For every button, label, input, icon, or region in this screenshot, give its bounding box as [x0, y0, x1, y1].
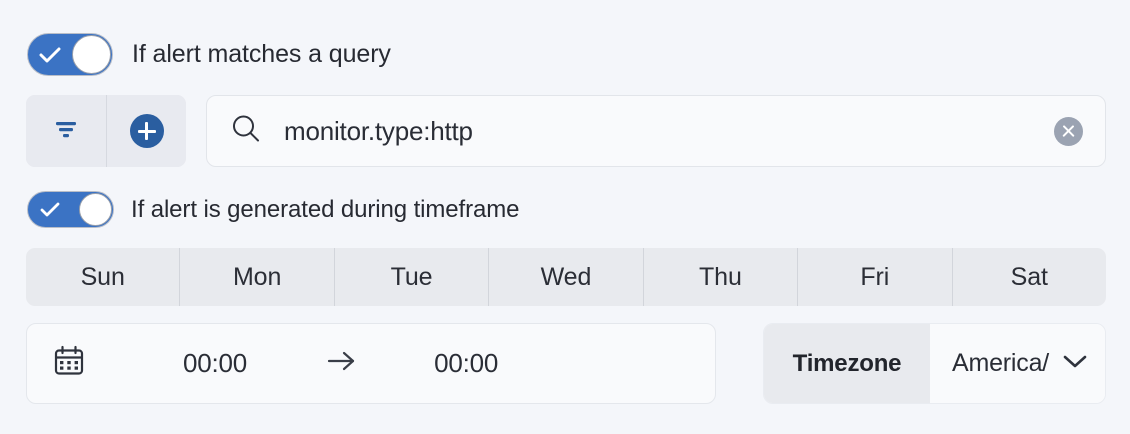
- day-button-tue[interactable]: Tue: [334, 248, 488, 306]
- plus-circle-icon: [130, 114, 164, 148]
- time-range-start[interactable]: 00:00: [183, 348, 247, 379]
- day-button-fri[interactable]: Fri: [797, 248, 951, 306]
- chevron-down-icon[interactable]: [1060, 351, 1090, 376]
- timezone-value[interactable]: America/: [952, 349, 1050, 378]
- day-button-sat[interactable]: Sat: [952, 248, 1106, 306]
- toggle-knob: [79, 193, 112, 226]
- timezone-value-wrap[interactable]: America/: [930, 324, 1105, 403]
- day-button-sun[interactable]: Sun: [26, 248, 179, 306]
- timezone-label: Timezone: [764, 324, 930, 403]
- check-icon: [40, 202, 60, 218]
- timeframe-condition-toggle[interactable]: [27, 191, 114, 228]
- timeframe-condition-row: If alert is generated during timeframe: [27, 191, 519, 228]
- filter-button[interactable]: [26, 95, 106, 167]
- search-icon: [229, 112, 263, 151]
- add-filter-button[interactable]: [106, 95, 186, 167]
- time-range-picker[interactable]: 00:00 00:00: [26, 323, 716, 404]
- time-range-end[interactable]: 00:00: [434, 348, 498, 379]
- timeframe-condition-label: If alert is generated during timeframe: [131, 196, 519, 224]
- query-condition-toggle[interactable]: [27, 33, 113, 76]
- close-circle-icon[interactable]: [1054, 117, 1083, 146]
- toggle-knob: [72, 35, 111, 74]
- calendar-icon: [52, 344, 86, 383]
- check-icon: [39, 46, 61, 64]
- timezone-selector[interactable]: Timezone America/: [763, 323, 1106, 404]
- day-button-thu[interactable]: Thu: [643, 248, 797, 306]
- query-toolbar: [26, 95, 186, 167]
- arrow-right-icon: [325, 348, 359, 379]
- query-condition-row: If alert matches a query: [27, 33, 391, 76]
- day-button-wed[interactable]: Wed: [488, 248, 642, 306]
- query-search-field[interactable]: monitor.type:http: [206, 95, 1106, 167]
- query-search-input[interactable]: monitor.type:http: [284, 116, 1054, 147]
- day-button-mon[interactable]: Mon: [179, 248, 333, 306]
- query-condition-label: If alert matches a query: [132, 40, 391, 69]
- filter-icon: [53, 119, 79, 144]
- day-of-week-selector: Sun Mon Tue Wed Thu Fri Sat: [26, 248, 1106, 306]
